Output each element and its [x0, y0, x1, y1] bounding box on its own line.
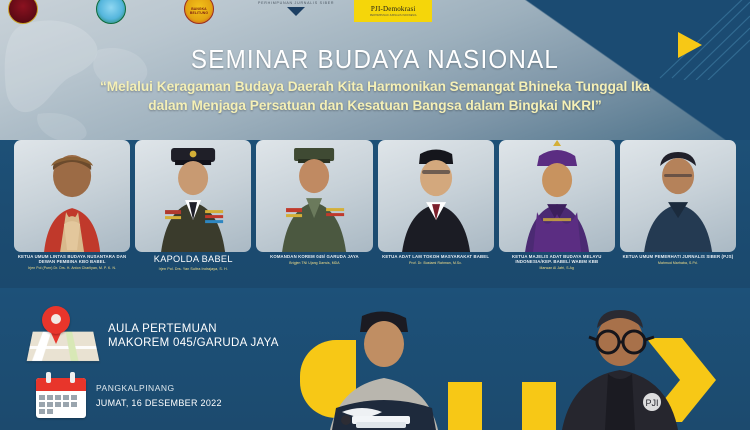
- venue-city: PANGKALPINANG: [96, 383, 222, 394]
- venue-block: AULA PERTEMUAN MAKOREM 045/GARUDA JAYA: [26, 302, 316, 418]
- speaker-label: KOMANDAN KOREM 045/ GARUDA JAYA Brigjen …: [256, 253, 372, 283]
- speaker-name: Irjen Pol (Purn) Dr. Drs. H. Anton Charl…: [14, 266, 130, 271]
- event-photo-left: [312, 300, 452, 430]
- seminar-poster: BANGKA BELITUNG PERHIMPUNAN JURNALIS SIB…: [0, 0, 750, 430]
- speaker-photo-4: [378, 140, 494, 252]
- speaker-card: [135, 140, 251, 252]
- svg-text:PJI: PJI: [645, 398, 658, 408]
- logo-pji-subtitle: PERHIMPUNAN JURNALIS INDONESIA: [370, 14, 417, 17]
- speaker-name: Prof. Dr. Bustami Rahman, M.Sc.: [378, 261, 494, 266]
- speaker-photo-1: [14, 140, 130, 252]
- speaker-name: Mahmud Marhaba, S.Pd.: [620, 261, 736, 266]
- logo-garuda-red: [8, 0, 38, 26]
- logo-pji-demokrasi: PJI-Demokrasi PERHIMPUNAN JURNALIS INDON…: [354, 0, 432, 22]
- speaker-photo-3: [256, 140, 372, 252]
- speaker-card: [620, 140, 736, 252]
- logo-bangka-belitung-text: BANGKA BELITUNG: [185, 7, 213, 15]
- speaker-labels-row: KETUA UMUM LINTAS BUDAYA NUSANTARA dan D…: [14, 253, 736, 283]
- speaker-label: KETUA UMUM PEMERHATI JURNALIS SIBER (PJS…: [620, 253, 736, 283]
- event-date: JUMAT, 16 DESEMBER 2022: [96, 397, 222, 409]
- logo-bar: BANGKA BELITUNG PERHIMPUNAN JURNALIS SIB…: [0, 0, 750, 26]
- speaker-label: KAPOLDA BABEL Irjen Pol. Drs. Yan Sultra…: [135, 253, 251, 283]
- venue-line-2: MAKOREM 045/GARUDA JAYA: [108, 336, 279, 351]
- logo-perhimpunan-title: PERHIMPUNAN JURNALIS SIBER: [258, 1, 334, 5]
- speaker-role: KOMANDAN KOREM 045/ GARUDA JAYA: [256, 254, 372, 259]
- speaker-role: KETUA UMUM LINTAS BUDAYA NUSANTARA dan D…: [14, 254, 130, 265]
- speaker-card: [14, 140, 130, 252]
- poster-subtitle: “Melalui Keragaman Budaya Daerah Kita Ha…: [50, 78, 701, 116]
- speaker-photo-2: [135, 140, 251, 252]
- speaker-photo-6: [620, 140, 736, 252]
- logo-perhimpunan: PERHIMPUNAN JURNALIS SIBER: [258, 1, 334, 16]
- speaker-role: KETUA ADAT LAM TOKOH MASYARAKAT BABEL: [378, 254, 494, 259]
- yellow-arrow-accent: [448, 382, 482, 430]
- calendar-icon: [36, 372, 86, 418]
- speaker-card: [378, 140, 494, 252]
- indonesia-map-silhouette: [0, 6, 260, 146]
- speaker-label: KETUA UMUM LINTAS BUDAYA NUSANTARA dan D…: [14, 253, 130, 283]
- subtitle-line-2: dalam Menjaga Persatuan dan Kesatuan Ban…: [50, 97, 701, 116]
- logo-pji-title: PJI-Demokrasi: [371, 5, 416, 13]
- chevron-down-icon: [287, 7, 305, 16]
- logo-bangka-belitung: BANGKA BELITUNG: [184, 0, 214, 26]
- venue-line-1: AULA PERTEMUAN: [108, 322, 279, 337]
- page-title: SEMINAR BUDAYA NASIONAL: [26, 44, 724, 75]
- speaker-name: Irjen Pol. Drs. Yan Sultra Indrajaya, S.…: [135, 267, 251, 272]
- speaker-portrait-row: [14, 140, 736, 255]
- speaker-label: KETUA MAJELIS ADAT BUDAYA MELAYU INDONES…: [499, 253, 615, 283]
- speaker-card: [499, 140, 615, 252]
- speaker-role: KETUA MAJELIS ADAT BUDAYA MELAYU INDONES…: [499, 254, 615, 265]
- speaker-name: Marwan Al Jafri, S.Ag: [499, 266, 615, 271]
- logo-green-circle: [96, 0, 126, 26]
- event-photo-right: PJI: [548, 298, 698, 430]
- map-pin-icon: [26, 302, 98, 364]
- subtitle-line-1: “Melalui Keragaman Budaya Daerah Kita Ha…: [50, 78, 701, 97]
- speaker-role: KAPOLDA BABEL: [135, 254, 251, 265]
- speaker-label: KETUA ADAT LAM TOKOH MASYARAKAT BABEL Pr…: [378, 253, 494, 283]
- speaker-card: [256, 140, 372, 252]
- speaker-photo-5: [499, 140, 615, 252]
- speaker-role: KETUA UMUM PEMERHATI JURNALIS SIBER (PJS…: [620, 254, 736, 259]
- speaker-name: Brigjen TNI Ujang Darwis, MDA: [256, 261, 372, 266]
